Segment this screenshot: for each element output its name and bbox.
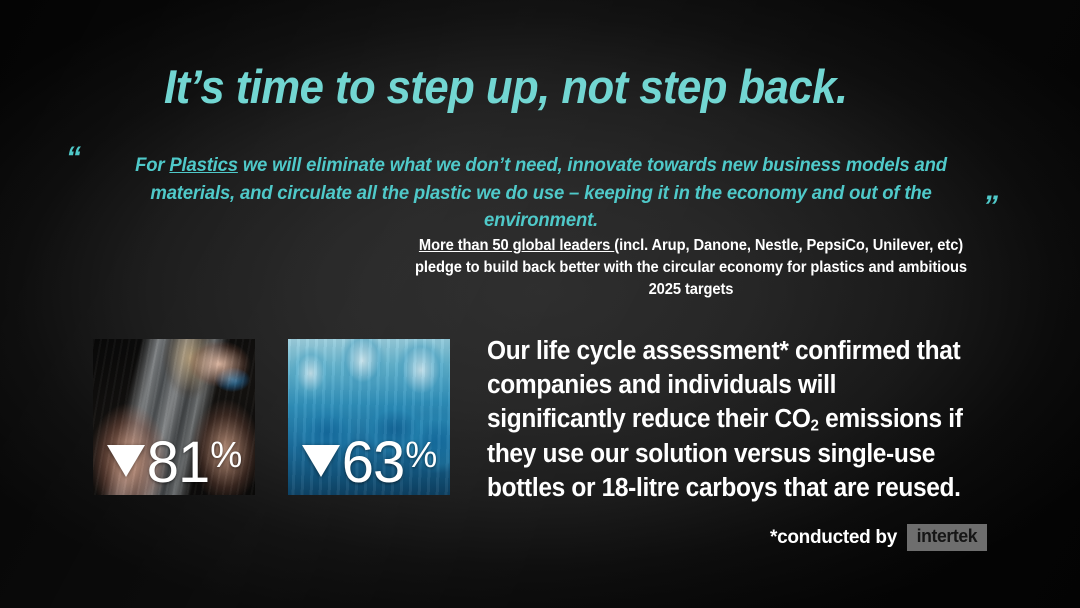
credit: *conducted by intertek: [770, 524, 987, 551]
pledge-quote: For Plastics we will eliminate what we d…: [111, 152, 972, 235]
stat-tile-single-use-bottles: 81 %: [93, 339, 255, 495]
pledge-line1-rest: (incl. Arup, Danone, Nestle, PepsiCo, Un…: [614, 237, 963, 254]
credit-text: *conducted by: [770, 527, 897, 549]
intertek-logo: intertek: [907, 524, 987, 551]
intertek-logo-label: intertek: [917, 527, 978, 545]
quote-emphasis-plastics: Plastics: [169, 154, 238, 176]
stat-value: 63: [342, 436, 405, 489]
quote-close-mark: ”: [983, 192, 997, 222]
page-title: It’s time to step up, not step back.: [164, 62, 964, 112]
stat-value: 81: [147, 436, 210, 489]
pledge-subtext: More than 50 global leaders (incl. Arup,…: [399, 235, 982, 301]
quote-line2: and circulate all the plastic we do use …: [240, 182, 932, 232]
slide-canvas: It’s time to step up, not step back. “ ”…: [0, 0, 1080, 608]
stat-reduction-81: 81 %: [93, 436, 255, 489]
stat-unit: %: [210, 437, 242, 473]
stat-tile-18-litre-carboys: 63 %: [288, 339, 450, 495]
quote-line1-pre: For: [135, 154, 169, 176]
stat-reduction-63: 63 %: [288, 436, 450, 489]
stat-unit: %: [405, 437, 437, 473]
down-triangle-icon: [302, 445, 340, 477]
pledge-emphasis: More than 50 global leaders: [419, 237, 614, 254]
body-copy: Our life cycle assessment* confirmed tha…: [487, 334, 979, 505]
pledge-line2: pledge to build back better with the cir…: [415, 259, 967, 298]
quote-open-mark: “: [66, 143, 80, 173]
down-triangle-icon: [107, 445, 145, 477]
